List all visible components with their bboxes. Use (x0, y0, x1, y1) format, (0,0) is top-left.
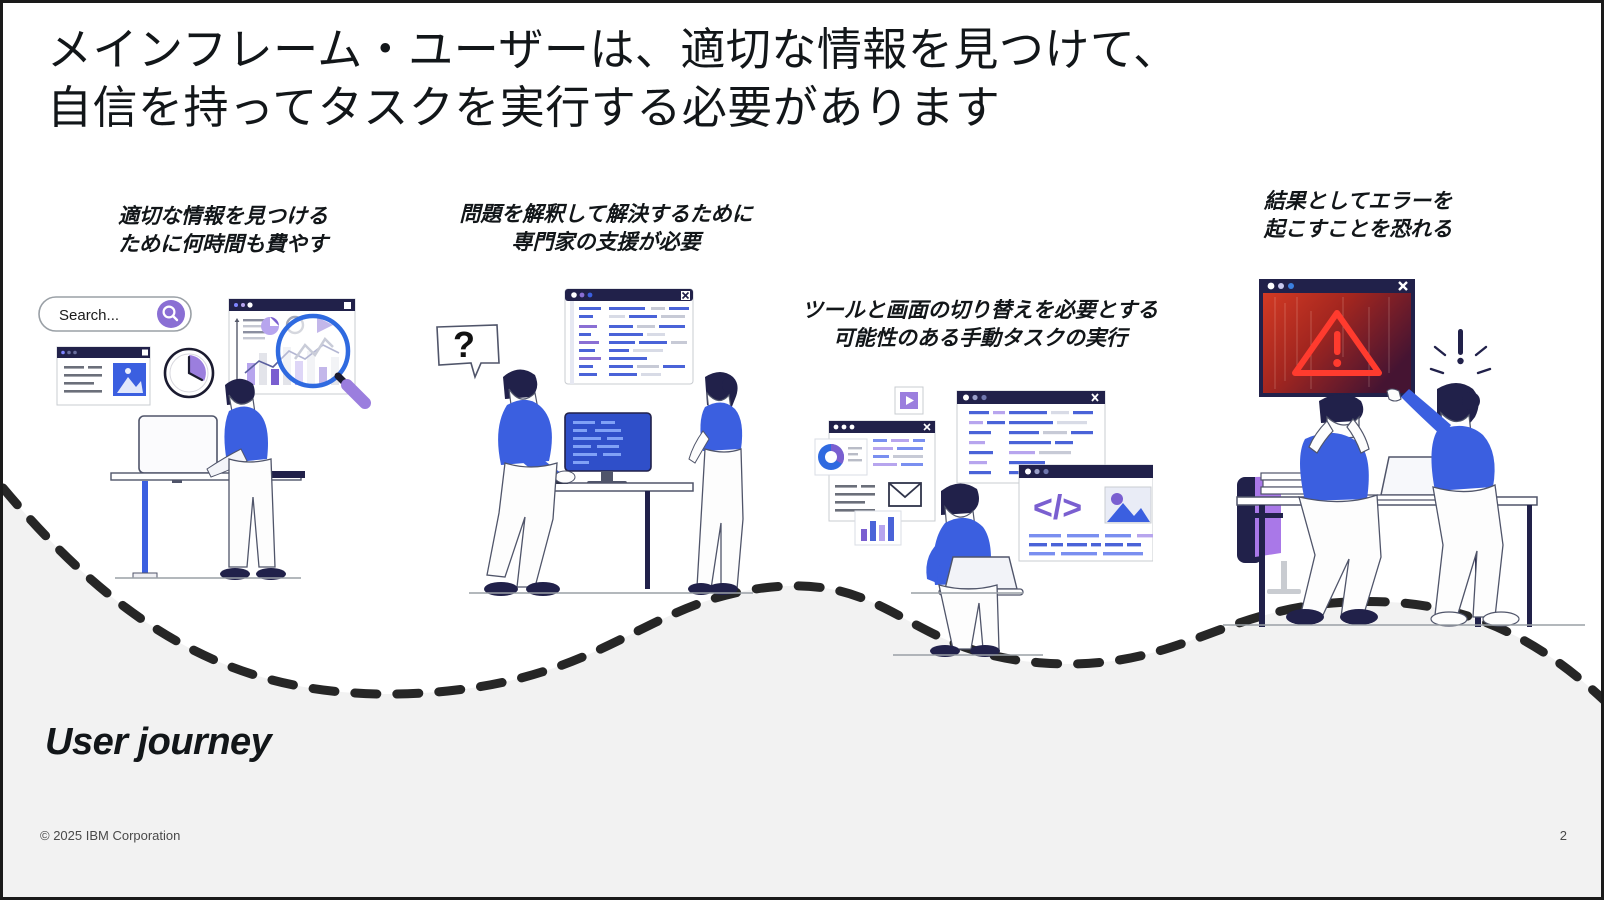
scene-search-and-dashboard: Search... (33, 281, 393, 611)
caption-manual-task-switching: ツールと画面の切り替えを必要とする 可能性のある手動タスクの実行 (745, 297, 1215, 352)
page-title: メインフレーム・ユーザーは、適切な情報を見つけて、 自信を持ってタスクを実行する… (47, 21, 1387, 136)
caption-find-information: 適切な情報を見つける ために何時間も費やす (58, 203, 388, 258)
browser-window-article (57, 347, 150, 405)
search-icon[interactable] (157, 300, 185, 328)
bar-chart-icon (855, 511, 901, 545)
play-icon (895, 387, 923, 414)
pie-chart-icon (261, 317, 279, 335)
caption-expert-support: 問題を解釈して解決するために 専門家の支援が必要 (401, 201, 811, 256)
svg-text:Search...: Search... (59, 307, 119, 324)
scene-question-and-code: ? (423, 281, 753, 601)
monitor-icon (565, 413, 651, 485)
person-typing (484, 369, 575, 596)
analytics-window (815, 421, 935, 545)
search-field[interactable]: Search... (39, 297, 191, 331)
user-journey-label: User journey (45, 721, 271, 764)
close-icon[interactable] (681, 291, 690, 300)
code-window (565, 289, 693, 384)
footer-copyright: © 2025 IBM Corporation (40, 828, 180, 843)
svg-text:?: ? (453, 324, 475, 365)
error-window (1259, 279, 1415, 397)
scene-error-frustration (1193, 261, 1585, 633)
slide-canvas: メインフレーム・ユーザーは、適切な情報を見つけて、 自信を持ってタスクを実行する… (0, 0, 1604, 900)
clock-icon (165, 349, 213, 397)
exclamation-icon (1431, 329, 1490, 373)
standing-desk-illustration (111, 379, 305, 580)
code-icon: </> (1033, 489, 1082, 527)
image-placeholder-icon (113, 363, 146, 396)
footer-page-number: 2 (1560, 828, 1567, 843)
caption-fear-of-errors: 結果としてエラーを 起こすことを恐れる (1218, 188, 1498, 243)
image-placeholder-icon (1105, 487, 1151, 523)
code-preview-window: </> (1019, 465, 1153, 561)
question-mark-icon: ? (437, 324, 499, 377)
svg-text:</>: </> (1033, 489, 1082, 527)
scene-context-switching: </> (793, 371, 1153, 671)
donut-chart-icon (815, 439, 867, 475)
person-standing-observer (688, 372, 743, 595)
envelope-icon (889, 483, 921, 506)
